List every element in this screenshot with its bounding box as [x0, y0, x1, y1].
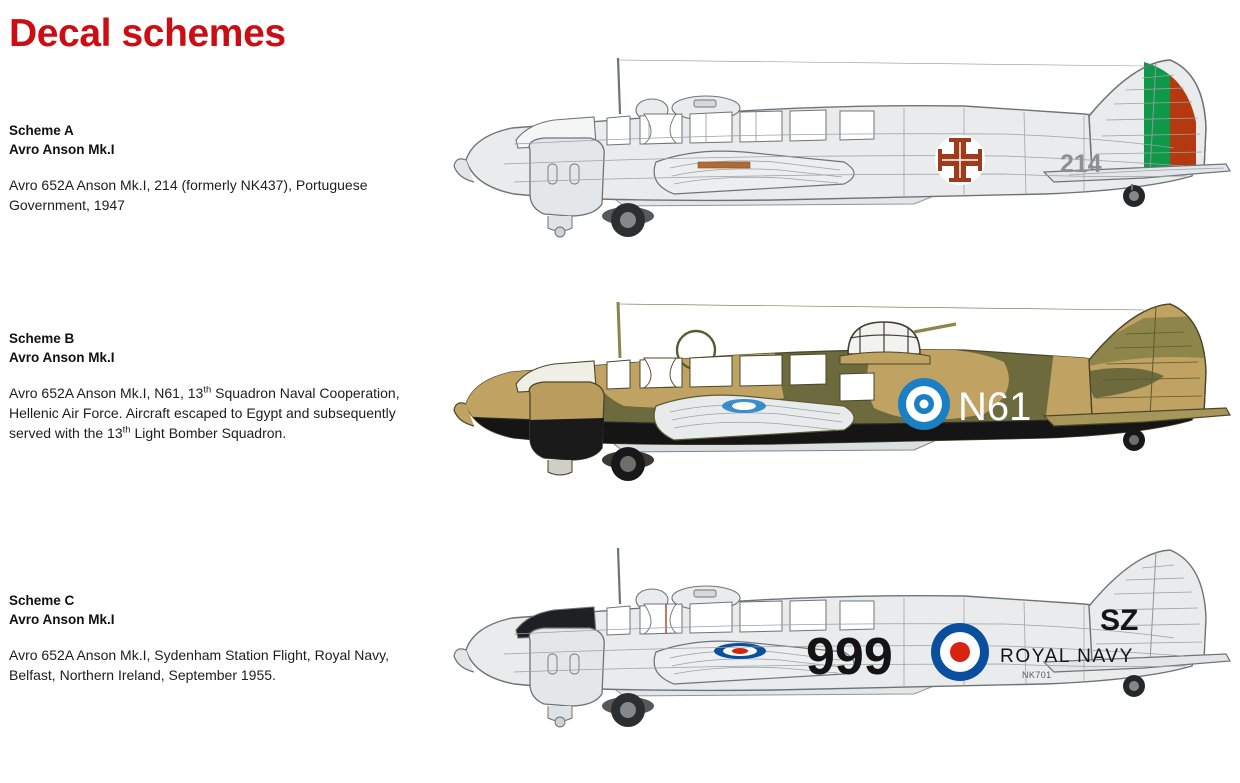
scheme-c-aircraft-profile: SZ: [444, 534, 1234, 769]
hellenic-roundel-marking: [898, 378, 950, 430]
scheme-a-heading: Scheme A Avro Anson Mk.I: [9, 121, 421, 159]
anson-profile-c: SZ: [444, 534, 1234, 769]
scheme-c-heading-line1: Scheme C: [9, 591, 421, 610]
fuselage-serial-a: 214: [1060, 150, 1102, 178]
scheme-c-heading: Scheme C Avro Anson Mk.I: [9, 591, 421, 629]
scheme-b-text-block: Scheme B Avro Anson Mk.I Avro 652A Anson…: [9, 329, 421, 444]
scheme-b-heading-line2: Avro Anson Mk.I: [9, 348, 421, 367]
scheme-b-heading-line1: Scheme B: [9, 329, 421, 348]
scheme-a-aircraft-profile: 214: [444, 44, 1234, 279]
tail-code-c: SZ: [1100, 604, 1138, 637]
fuselage-code-b: N61: [958, 385, 1031, 429]
anson-profile-b: N61: [444, 288, 1234, 523]
scheme-a-heading-line1: Scheme A: [9, 121, 421, 140]
fuselage-number-c: 999: [806, 628, 893, 686]
decal-schemes-page: Decal schemes Scheme A Avro Anson Mk.I A…: [0, 0, 1240, 783]
scheme-b-aircraft-profile: N61: [444, 288, 1234, 523]
scheme-c-heading-line2: Avro Anson Mk.I: [9, 610, 421, 629]
anson-profile-a: 214: [444, 44, 1234, 279]
scheme-c-description: Avro 652A Anson Mk.I, Sydenham Station F…: [9, 646, 421, 686]
portuguese-cross-marking: [935, 135, 985, 185]
scheme-b-heading: Scheme B Avro Anson Mk.I: [9, 329, 421, 367]
scheme-a-text-block: Scheme A Avro Anson Mk.I Avro 652A Anson…: [9, 121, 421, 216]
scheme-a-description: Avro 652A Anson Mk.I, 214 (formerly NK43…: [9, 176, 421, 216]
small-serial-c: NK701: [1022, 670, 1052, 680]
scheme-c-text-block: Scheme C Avro Anson Mk.I Avro 652A Anson…: [9, 591, 421, 686]
page-title: Decal schemes: [9, 14, 286, 55]
service-title-c: ROYAL NAVY: [1000, 646, 1134, 667]
raf-roundel-marking: [931, 623, 989, 681]
scheme-a-heading-line2: Avro Anson Mk.I: [9, 140, 421, 159]
scheme-b-description: Avro 652A Anson Mk.I, N61, 13th Squadron…: [9, 384, 421, 444]
